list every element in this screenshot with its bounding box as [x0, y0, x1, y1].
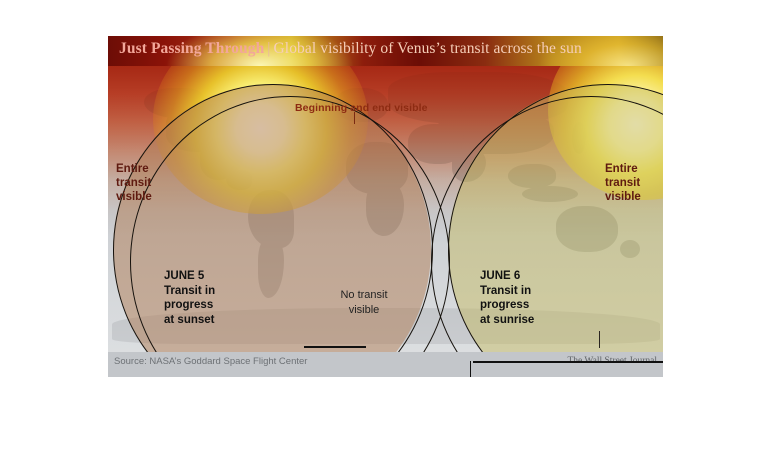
- world-map: Beginning and end visible Entire transit…: [108, 66, 663, 352]
- artifact-rule-bottom: [473, 361, 663, 363]
- artifact-rule-vertical: [470, 361, 471, 377]
- label-june-5-transit-at-sunset: JUNE 5 Transit in progress at sunset: [164, 269, 215, 327]
- title-subhead: Global visibility of Venus’s transit acr…: [274, 40, 582, 57]
- title-bar: Just Passing Through|Global visibility o…: [108, 36, 663, 66]
- source-note: Source: NASA’s Goddard Space Flight Cent…: [114, 356, 307, 367]
- label-beginning-and-end-visible: Beginning and end visible: [295, 102, 428, 114]
- label-june-6-transit-at-sunrise: JUNE 6 Transit in progress at sunrise: [480, 269, 534, 327]
- infographic-panel: Just Passing Through|Global visibility o…: [108, 36, 663, 377]
- label-no-transit-visible: No transit visible: [322, 288, 406, 318]
- page-title: Just Passing Through|Global visibility o…: [119, 40, 582, 58]
- footer-bar: Source: NASA’s Goddard Space Flight Cent…: [108, 352, 663, 377]
- label-entire-transit-visible-right: Entire transit visible: [605, 162, 641, 204]
- artifact-rule-top: [304, 346, 366, 348]
- title-headline: Just Passing Through: [119, 40, 264, 57]
- title-separator: |: [267, 40, 270, 57]
- label-entire-transit-visible-left: Entire transit visible: [116, 162, 152, 204]
- leader-line-short-period: [599, 331, 600, 348]
